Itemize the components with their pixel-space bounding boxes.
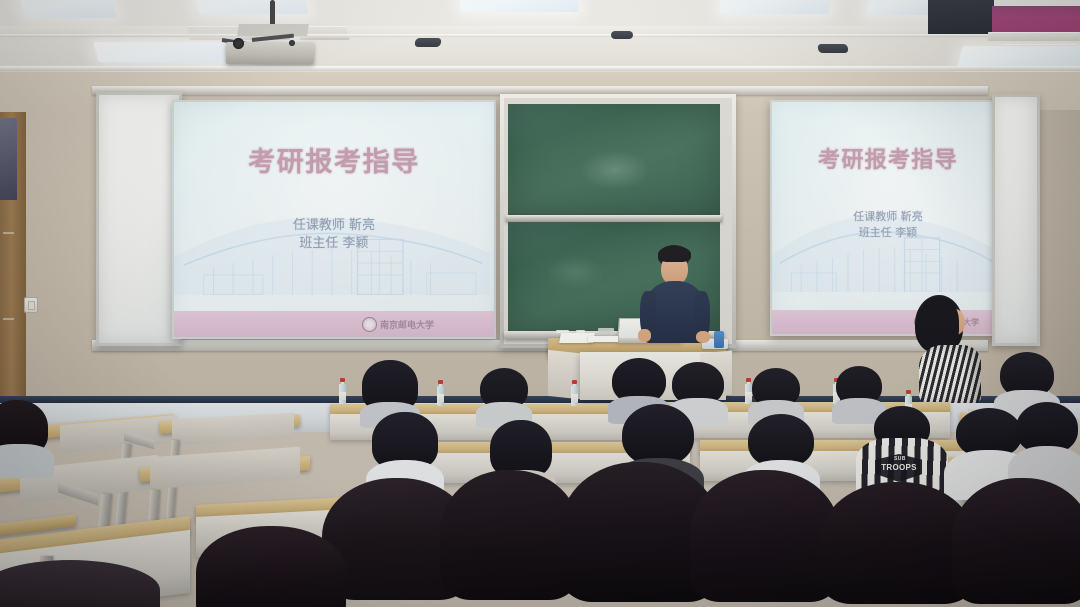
shirt-text-sub: SUB — [882, 456, 918, 462]
assistant-striped-top — [919, 345, 981, 403]
student-hair — [952, 478, 1080, 604]
water-bottle[interactable] — [437, 380, 445, 406]
door-hinge — [3, 232, 14, 234]
student-hair — [622, 404, 694, 466]
ceiling-speaker — [611, 31, 633, 39]
chalkboard-divider-rail — [506, 215, 722, 222]
lecture-hall-photo: 考研报考指导 任课教师 靳亮 班主任 李颖 南京邮电大学 — [0, 0, 1080, 607]
ceiling-seam — [0, 66, 1080, 71]
projector-mount-rod — [270, 0, 275, 26]
ceiling-light-panel — [194, 0, 308, 14]
ceiling-light-panel — [957, 46, 1080, 66]
chalk-smudge — [580, 150, 650, 190]
university-logo-text: 南京邮电大学 — [380, 318, 434, 331]
presenter-hair-top — [658, 246, 691, 262]
presenter-right-hand — [696, 331, 710, 343]
student — [478, 368, 530, 424]
projector-lens-icon — [289, 40, 295, 46]
rear-display-magenta — [992, 6, 1080, 34]
student-hair — [690, 470, 840, 602]
chalk-smudge — [545, 255, 605, 289]
ceiling-edge-trim — [988, 32, 1080, 41]
ceiling-seam — [0, 34, 1080, 37]
eraser[interactable] — [598, 328, 614, 333]
logo-emblem-icon — [362, 317, 377, 332]
student-hair — [196, 526, 346, 607]
shirt-text: TROOPS — [878, 463, 920, 472]
whiteboard-left-panel[interactable] — [96, 92, 182, 346]
assistant-hair-front — [917, 297, 959, 349]
slide-footer-bar: 南京邮电大学 — [174, 311, 494, 337]
slide-title: 考研报考指导 — [174, 140, 494, 179]
desk-backrest — [172, 413, 294, 445]
blue-water-bottle[interactable] — [714, 331, 724, 348]
water-bottle[interactable] — [339, 378, 347, 404]
ceiling-light-panel — [719, 0, 831, 14]
door-window — [0, 118, 17, 200]
projector-lens-icon — [233, 38, 244, 49]
projection-screen-left: 考研报考指导 任课教师 靳亮 班主任 李颖 南京邮电大学 — [172, 100, 496, 339]
slide-instructor-line: 任课教师 靳亮 — [174, 214, 494, 233]
water-bottle[interactable] — [571, 380, 579, 406]
presenter-left-hand — [638, 329, 651, 342]
door-hinge — [3, 318, 14, 320]
ceiling-light-panel — [459, 0, 579, 12]
university-logo: 南京邮电大学 — [362, 317, 434, 332]
paper-sheet[interactable] — [588, 336, 618, 342]
projector-mount-plate — [237, 24, 309, 36]
student-foreground — [690, 470, 840, 607]
student-torso — [0, 444, 54, 478]
light-switch[interactable] — [24, 297, 38, 313]
ceiling-light-panel — [18, 0, 117, 18]
slide-advisor-line: 班主任 李颖 — [772, 224, 1004, 240]
presenter — [640, 245, 710, 345]
student-foreground — [440, 470, 580, 607]
slide-title: 考研报考指导 — [772, 142, 1004, 174]
student-foreground — [0, 400, 56, 470]
student-foreground — [196, 520, 346, 607]
student-hair — [440, 470, 580, 600]
ceiling-speaker — [817, 44, 848, 53]
slide-advisor-line: 班主任 李颖 — [174, 232, 494, 251]
slide-instructor-line: 任课教师 靳亮 — [772, 208, 1004, 224]
rear-monitor-dark — [928, 0, 994, 34]
student-foreground — [952, 478, 1080, 607]
ceiling-speaker — [414, 38, 442, 47]
standing-assistant — [905, 295, 981, 405]
whiteboard-right-panel[interactable] — [992, 94, 1040, 346]
